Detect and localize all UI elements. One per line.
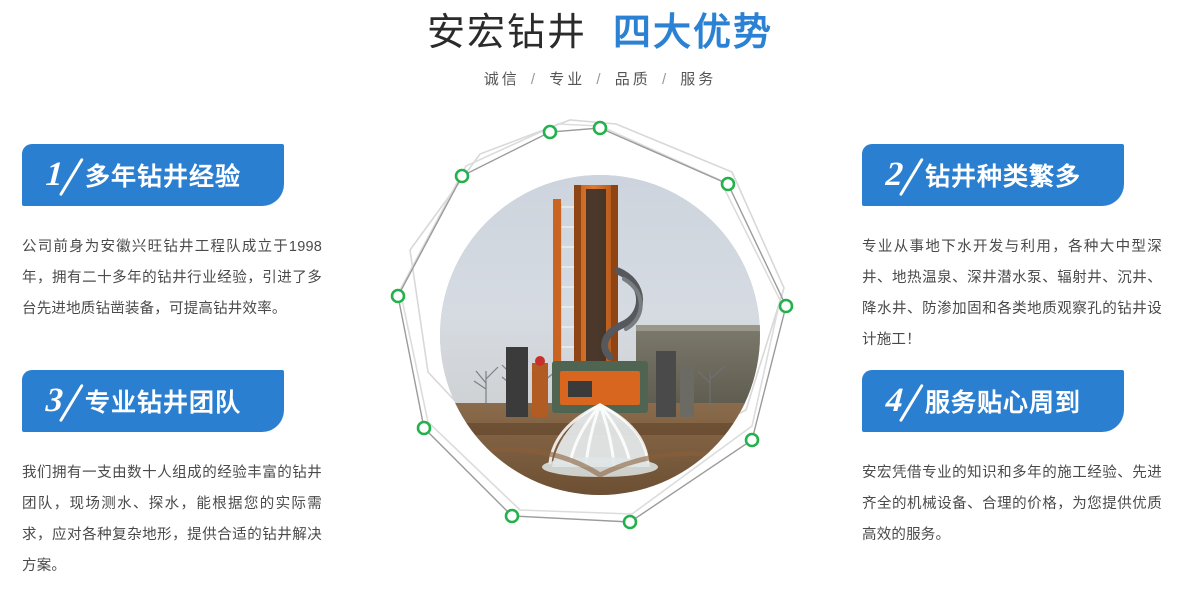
polygon-node-9 [456,170,468,182]
polygon-node-7 [418,422,430,434]
advantage-card-4-header: 4 服务贴心周到 [862,370,1124,432]
subtitle-separator-0: / [527,71,542,88]
advantage-card-1[interactable]: 1 多年钻井经验 公司前身为安徽兴旺钻井工程队成立于1998年，拥有二十多年的钻… [22,144,322,325]
subtitle-separator-1: / [592,71,607,88]
advantage-card-4-title: 服务贴心周到 [925,383,1081,419]
polygon-node-3 [780,300,792,312]
advantage-card-4[interactable]: 4 服务贴心周到 安宏凭借专业的知识和多年的施工经验、先进齐全的机械设备、合理的… [862,370,1162,551]
page-root: 安宏钻井 四大优势 诚信 / 专业 / 品质 / 服务 1 多年钻井经验 公司前… [0,0,1200,600]
center-graphic [380,110,820,580]
polygon-node-10 [544,126,556,138]
subtitle-item-3: 服务 [680,71,716,88]
page-header: 安宏钻井 四大优势 诚信 / 专业 / 品质 / 服务 [0,0,1200,110]
advantage-card-1-body: 公司前身为安徽兴旺钻井工程队成立于1998年，拥有二十多年的钻井行业经验，引进了… [22,232,322,325]
advantage-card-3-body: 我们拥有一支由数十人组成的经验丰富的钻井团队，现场测水、探水，能根据您的实际需求… [22,458,322,582]
advantage-card-4-body: 安宏凭借专业的知识和多年的施工经验、先进齐全的机械设备、合理的价格，为您提供优质… [862,458,1162,551]
advantage-card-1-header: 1 多年钻井经验 [22,144,284,206]
advantage-card-2-body: 专业从事地下水开发与利用，各种大中型深井、地热温泉、深井潜水泵、辐射井、沉井、降… [862,232,1162,356]
advantage-card-3[interactable]: 3 专业钻井团队 我们拥有一支由数十人组成的经验丰富的钻井团队，现场测水、探水，… [22,370,322,582]
advantage-card-2-number: 2 [875,158,910,192]
title-highlight: 四大优势 [613,14,773,52]
advantage-card-3-header: 3 专业钻井团队 [22,370,284,432]
photo-pillar-left [506,347,528,417]
title-company: 安宏钻井 [427,14,587,52]
advantage-card-3-title: 专业钻井团队 [85,383,241,419]
advantage-card-3-number: 3 [35,384,70,418]
advantage-card-2-title: 钻井种类繁多 [925,157,1081,193]
polygon-node-1 [594,122,606,134]
advantage-card-1-title: 多年钻井经验 [85,157,241,193]
photo-pillar-right-2 [680,365,694,417]
page-title: 安宏钻井 四大优势 [0,14,1200,52]
subtitle-item-2: 品质 [615,71,651,88]
polygon-node-5 [624,516,636,528]
drilling-rig-illustration [440,175,760,495]
photo-pillar-left-2 [532,363,548,417]
subtitle-separator-2: / [658,71,673,88]
advantage-card-4-number: 4 [875,384,910,418]
photo-wall [636,325,760,411]
advantage-card-1-number: 1 [35,158,70,192]
page-subtitle: 诚信 / 专业 / 品质 / 服务 [0,68,1200,89]
photo-pillar-right [656,351,676,417]
photo-indicator-light [535,356,545,366]
drilling-rig-photo [440,175,760,495]
subtitle-item-1: 专业 [549,71,585,88]
advantage-card-2-header: 2 钻井种类繁多 [862,144,1124,206]
polygon-node-6 [506,510,518,522]
photo-machine-vent [568,381,592,397]
polygon-node-8 [392,290,404,302]
polygon-node-2 [722,178,734,190]
photo-wall-cap [636,325,760,331]
advantage-card-2[interactable]: 2 钻井种类繁多 专业从事地下水开发与利用，各种大中型深井、地热温泉、深井潜水泵… [862,144,1162,356]
polygon-node-4 [746,434,758,446]
subtitle-item-0: 诚信 [484,71,520,88]
